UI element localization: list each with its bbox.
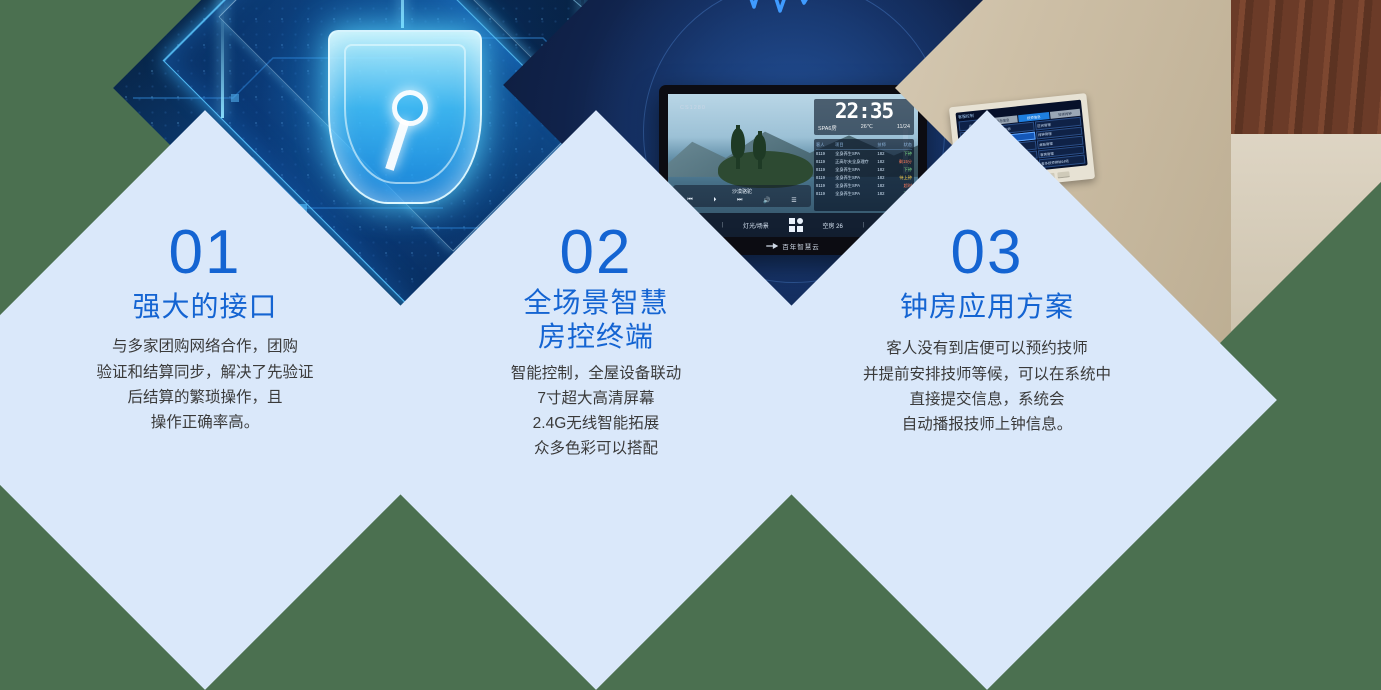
schedule-rows: 8119全身养生SPA182下钟8119正高尔夫全身理疗182剩15分8119全… (816, 150, 912, 198)
media-track-title: 沙漠骆驼 (677, 188, 807, 195)
col-tech: 技师 (877, 141, 892, 149)
apps-grid-icon[interactable] (789, 218, 803, 232)
card-description: 客人没有到店便可以预约技师 并提前安排技师等候，可以在系统中 直接提交信息，系统… (863, 336, 1111, 436)
panel-menu-right[interactable]: 区间管理排钟管理桌账管理客房管理查多技师排钟24项 (1035, 116, 1086, 168)
card-title: 全场景智慧 房控终端 (523, 286, 668, 354)
list-icon[interactable]: ☰ (791, 197, 796, 204)
card-number: 02 (560, 221, 633, 284)
schedule-cell: 8119 (816, 150, 835, 158)
device-model-label: CS1280 (680, 105, 706, 111)
schedule-cell: 待上钟 (893, 174, 912, 182)
schedule-row: 8119全身养生SPA182下钟 (816, 166, 912, 174)
clock-temp: 26℃ (861, 124, 873, 132)
schedule-cell: 全身养生SPA (835, 182, 877, 190)
schedule-cell: 下钟 (893, 150, 912, 158)
schedule-row: 8119正高尔夫全身理疗182剩15分 (816, 158, 912, 166)
col-status: 状态 (893, 141, 912, 149)
schedule-cell: 剩15分 (893, 158, 912, 166)
plant (1319, 273, 1381, 343)
toolbar-item-rooms[interactable]: 空房 26 (822, 220, 842, 229)
plant (1258, 308, 1324, 366)
schedule-cell: 8119 (816, 174, 835, 182)
card-description: 智能控制，全屋设备联动 7寸超大高清屏幕 2.4G无线智能拓展 众多色彩可以搭配 (511, 361, 682, 461)
play-icon[interactable]: ⏵ (713, 197, 716, 204)
light-beam (401, 0, 404, 28)
schedule-cell: 下钟 (893, 166, 912, 174)
media-player-widget: 沙漠骆驼 ⏮ ⏵ ⏭ 🔊 ☰ (673, 185, 811, 207)
schedule-cell: 8119 (816, 158, 835, 166)
clock-widget: 22:35 SPA6房 26℃ 11/24 (814, 99, 914, 135)
schedule-cell: 8119 (816, 166, 835, 174)
schedule-row: 8119全身养生SPA182下钟 (816, 190, 912, 198)
card-number: 01 (169, 221, 242, 284)
next-icon[interactable]: ⏭ (737, 197, 742, 204)
schedule-cell: 182 (877, 190, 892, 198)
heartbeat-pulse-icon (688, 0, 898, 19)
volume-icon[interactable]: 🔊 (763, 197, 770, 204)
schedule-row: 8119全身养生SPA182下钟 (816, 150, 912, 158)
card-number: 03 (951, 221, 1024, 284)
card-title: 钟房应用方案 (900, 290, 1074, 324)
panel-button[interactable] (1057, 171, 1070, 178)
card-description: 与多家团购网络合作，团购 验证和结算同步，解决了先验证 后结算的繁琐操作，且 操… (96, 334, 313, 434)
brand-name: 百年智慧云 (782, 241, 820, 251)
schedule-row: 8119全身养生SPA182超时 (816, 182, 912, 190)
clock-time: 22:35 (818, 101, 910, 122)
toolbar-divider: | (863, 222, 865, 228)
media-controls: ⏮ ⏵ ⏭ 🔊 ☰ (677, 197, 807, 204)
schedule-cell: 182 (877, 150, 892, 158)
toolbar-item-light[interactable]: 灯光/场景 (743, 220, 769, 229)
schedule-cell: 全身养生SPA (835, 190, 877, 198)
clock-date: 11/24 (897, 124, 910, 132)
schedule-cell: 182 (877, 158, 892, 166)
schedule-row: 8119全身养生SPA182待上钟 (816, 174, 912, 182)
toolbar-divider: | (722, 222, 724, 228)
schedule-cell: 全身养生SPA (835, 166, 877, 174)
col-guest: 客人 (816, 141, 835, 149)
clock-and-schedule-panel: 22:35 SPA6房 26℃ 11/24 客人 项目 (814, 99, 914, 211)
schedule-cell: 182 (877, 166, 892, 174)
brand-logo-icon (766, 243, 778, 249)
schedule-cell: 8119 (816, 182, 835, 190)
schedule-cell: 全身养生SPA (835, 174, 877, 182)
schedule-cell: 182 (877, 174, 892, 182)
light-beam (221, 0, 224, 118)
col-service: 项目 (835, 141, 877, 149)
shield-icon (328, 30, 482, 204)
diamond-feature-board: CS1280 22:35 SPA6房 26℃ 11/24 (0, 0, 1381, 603)
schedule-cell: 正高尔夫全身理疗 (835, 158, 877, 166)
schedule-cell: 182 (877, 182, 892, 190)
schedule-cell: 全身养生SPA (835, 150, 877, 158)
schedule-header-row: 客人 项目 技师 状态 (816, 141, 912, 150)
schedule-cell: 8119 (816, 190, 835, 198)
card-title: 强大的接口 (132, 290, 277, 324)
lock-keyhole-icon (392, 90, 428, 126)
clock-room: SPA6房 (818, 124, 837, 132)
